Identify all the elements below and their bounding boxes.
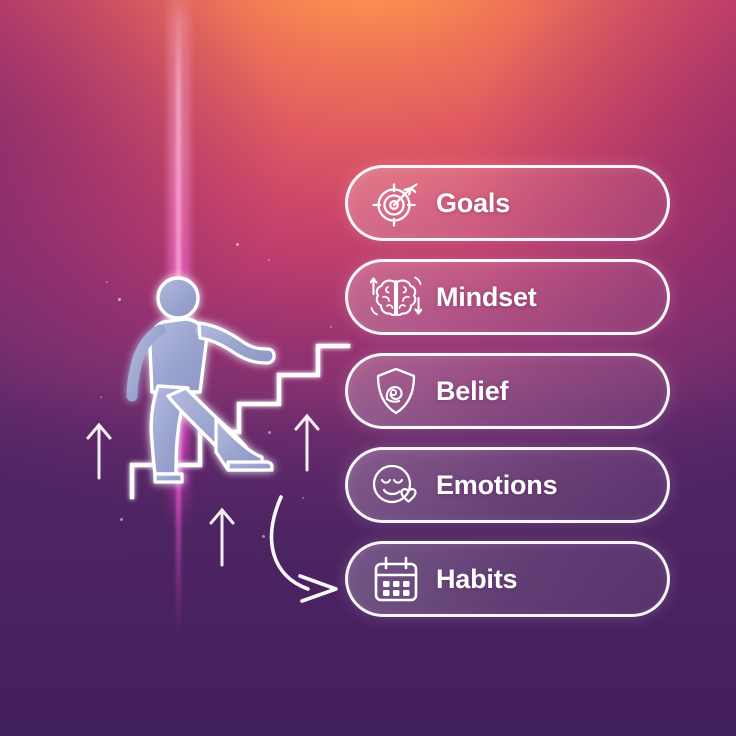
brain-arrows-icon: [368, 269, 424, 325]
card-emotions[interactable]: Emotions: [345, 447, 670, 523]
card-habits[interactable]: Habits: [345, 541, 670, 617]
smiley-heart-icon: [368, 457, 424, 513]
card-belief[interactable]: Belief: [345, 353, 670, 429]
card-label: Belief: [436, 376, 508, 407]
card-mindset[interactable]: Mindset: [345, 259, 670, 335]
card-label: Habits: [436, 564, 517, 595]
shield-bicep-icon: [368, 363, 424, 419]
card-label: Goals: [436, 188, 510, 219]
poster-canvas: Goals: [0, 0, 736, 736]
card-goals[interactable]: Goals: [345, 165, 670, 241]
card-label: Emotions: [436, 470, 557, 501]
calendar-icon: [368, 551, 424, 607]
concept-card-list: Goals: [345, 165, 670, 635]
card-label: Mindset: [436, 282, 537, 313]
target-arrow-icon: [368, 175, 424, 231]
